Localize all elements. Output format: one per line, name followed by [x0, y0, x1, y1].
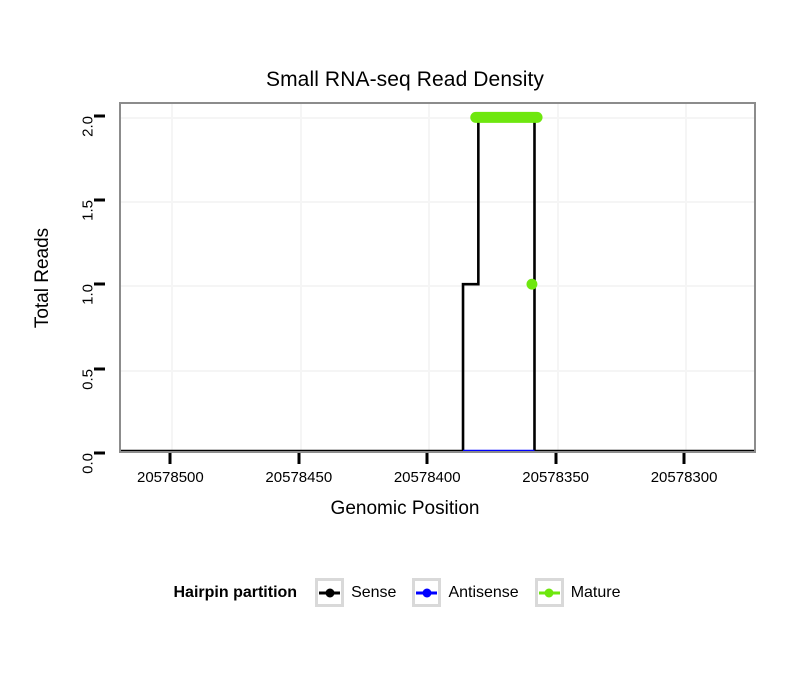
y-tick-label: 0.5 — [80, 369, 97, 390]
legend-title: Hairpin partition — [174, 584, 298, 602]
legend-key-dot — [545, 588, 554, 597]
series-marker-mature — [526, 279, 537, 290]
x-tick-mark — [554, 453, 557, 464]
x-tick-label: 20578500 — [137, 469, 204, 486]
chart-legend: Hairpin partition SenseAntisenseMature — [0, 578, 810, 607]
x-tick-label: 20578450 — [265, 469, 332, 486]
x-tick-label: 20578300 — [651, 469, 718, 486]
legend-entries: SenseAntisenseMature — [315, 578, 636, 607]
legend-entry-sense[interactable]: Sense — [315, 578, 396, 607]
chart-title: Small RNA-seq Read Density — [0, 68, 810, 92]
legend-label: Sense — [351, 584, 396, 602]
x-tick-mark — [169, 453, 172, 464]
plot-panel — [119, 102, 756, 453]
legend-label: Antisense — [448, 584, 518, 602]
y-tick-label: 0.0 — [80, 453, 97, 474]
y-tick-label: 1.5 — [80, 200, 97, 221]
x-axis-title: Genomic Position — [0, 498, 810, 520]
y-axis: 0.00.51.01.52.0 — [0, 102, 105, 453]
y-tick-label: 1.0 — [80, 284, 97, 305]
data-layer — [121, 104, 754, 451]
x-tick-label: 20578350 — [522, 469, 589, 486]
legend-label: Mature — [571, 584, 621, 602]
series-line-sense — [121, 117, 754, 451]
legend-key-dot — [422, 588, 431, 597]
legend-key-dot — [325, 588, 334, 597]
y-tick-label: 2.0 — [80, 116, 97, 137]
x-tick-mark — [426, 453, 429, 464]
legend-key-sense — [315, 578, 344, 607]
x-tick-mark — [683, 453, 686, 464]
legend-entry-antisense[interactable]: Antisense — [412, 578, 518, 607]
legend-key-mature — [535, 578, 564, 607]
legend-entry-mature[interactable]: Mature — [535, 578, 621, 607]
x-axis: 2057850020578450205784002057835020578300 — [119, 453, 756, 499]
legend-key-antisense — [412, 578, 441, 607]
x-tick-label: 20578400 — [394, 469, 461, 486]
x-tick-mark — [297, 453, 300, 464]
